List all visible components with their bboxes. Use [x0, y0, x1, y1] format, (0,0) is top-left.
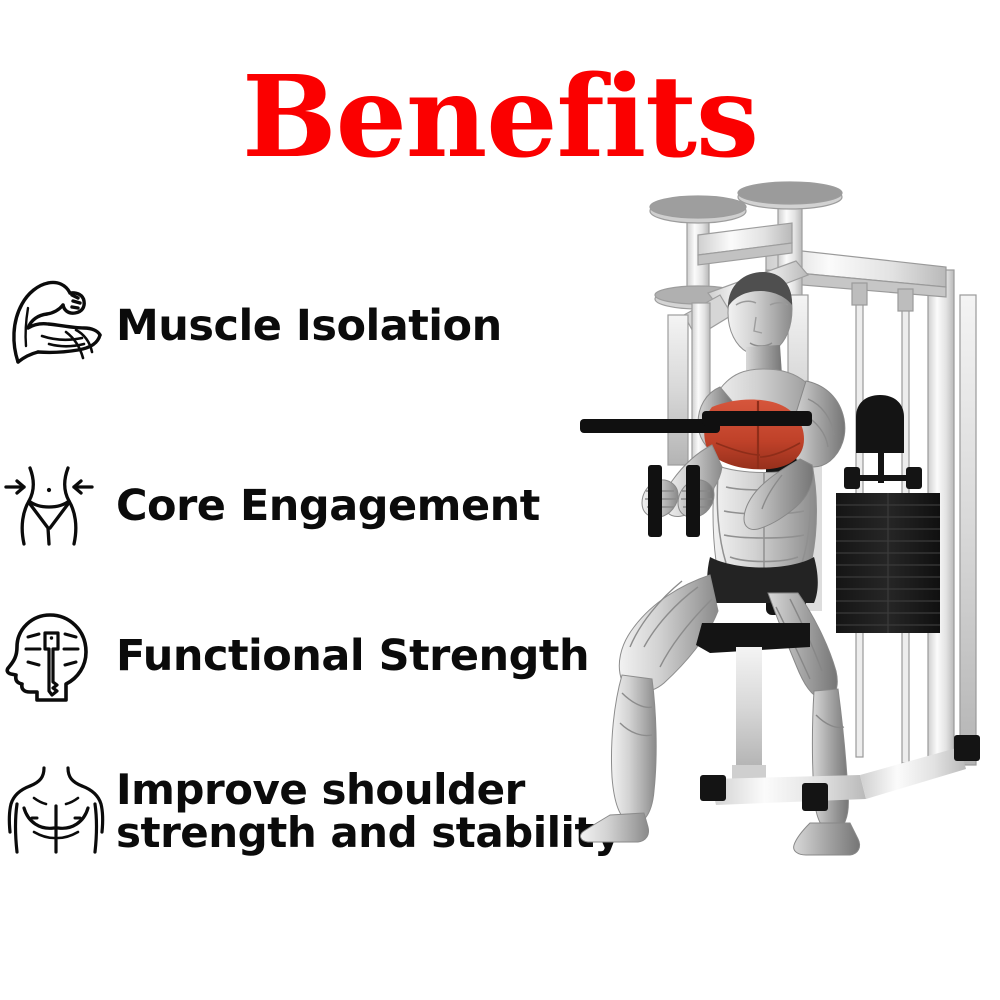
benefit-item-muscle-isolation: Muscle Isolation — [4, 274, 502, 378]
page-title: Benefits — [0, 62, 1000, 174]
slim-waist-icon — [4, 454, 108, 558]
chest-torso-icon — [4, 760, 108, 864]
benefit-label: Muscle Isolation — [116, 304, 502, 349]
benefit-item-core-engagement: Core Engagement — [4, 454, 540, 558]
benefit-item-shoulder-strength: Improve shoulder strength and stability — [4, 760, 621, 864]
benefit-label: Improve shoulder strength and stability — [116, 769, 621, 855]
benefit-item-functional-strength: Functional Strength — [4, 604, 589, 708]
head-with-key-icon — [4, 604, 108, 708]
pectoral-highlight — [704, 400, 804, 470]
benefit-label: Functional Strength — [116, 634, 589, 679]
benefit-label: Core Engagement — [116, 484, 540, 529]
pec-deck-machine-illustration — [560, 175, 1000, 865]
infographic-canvas: Benefits — [0, 0, 1000, 1000]
flexed-bicep-icon — [4, 274, 108, 378]
weight-stack — [836, 395, 940, 633]
